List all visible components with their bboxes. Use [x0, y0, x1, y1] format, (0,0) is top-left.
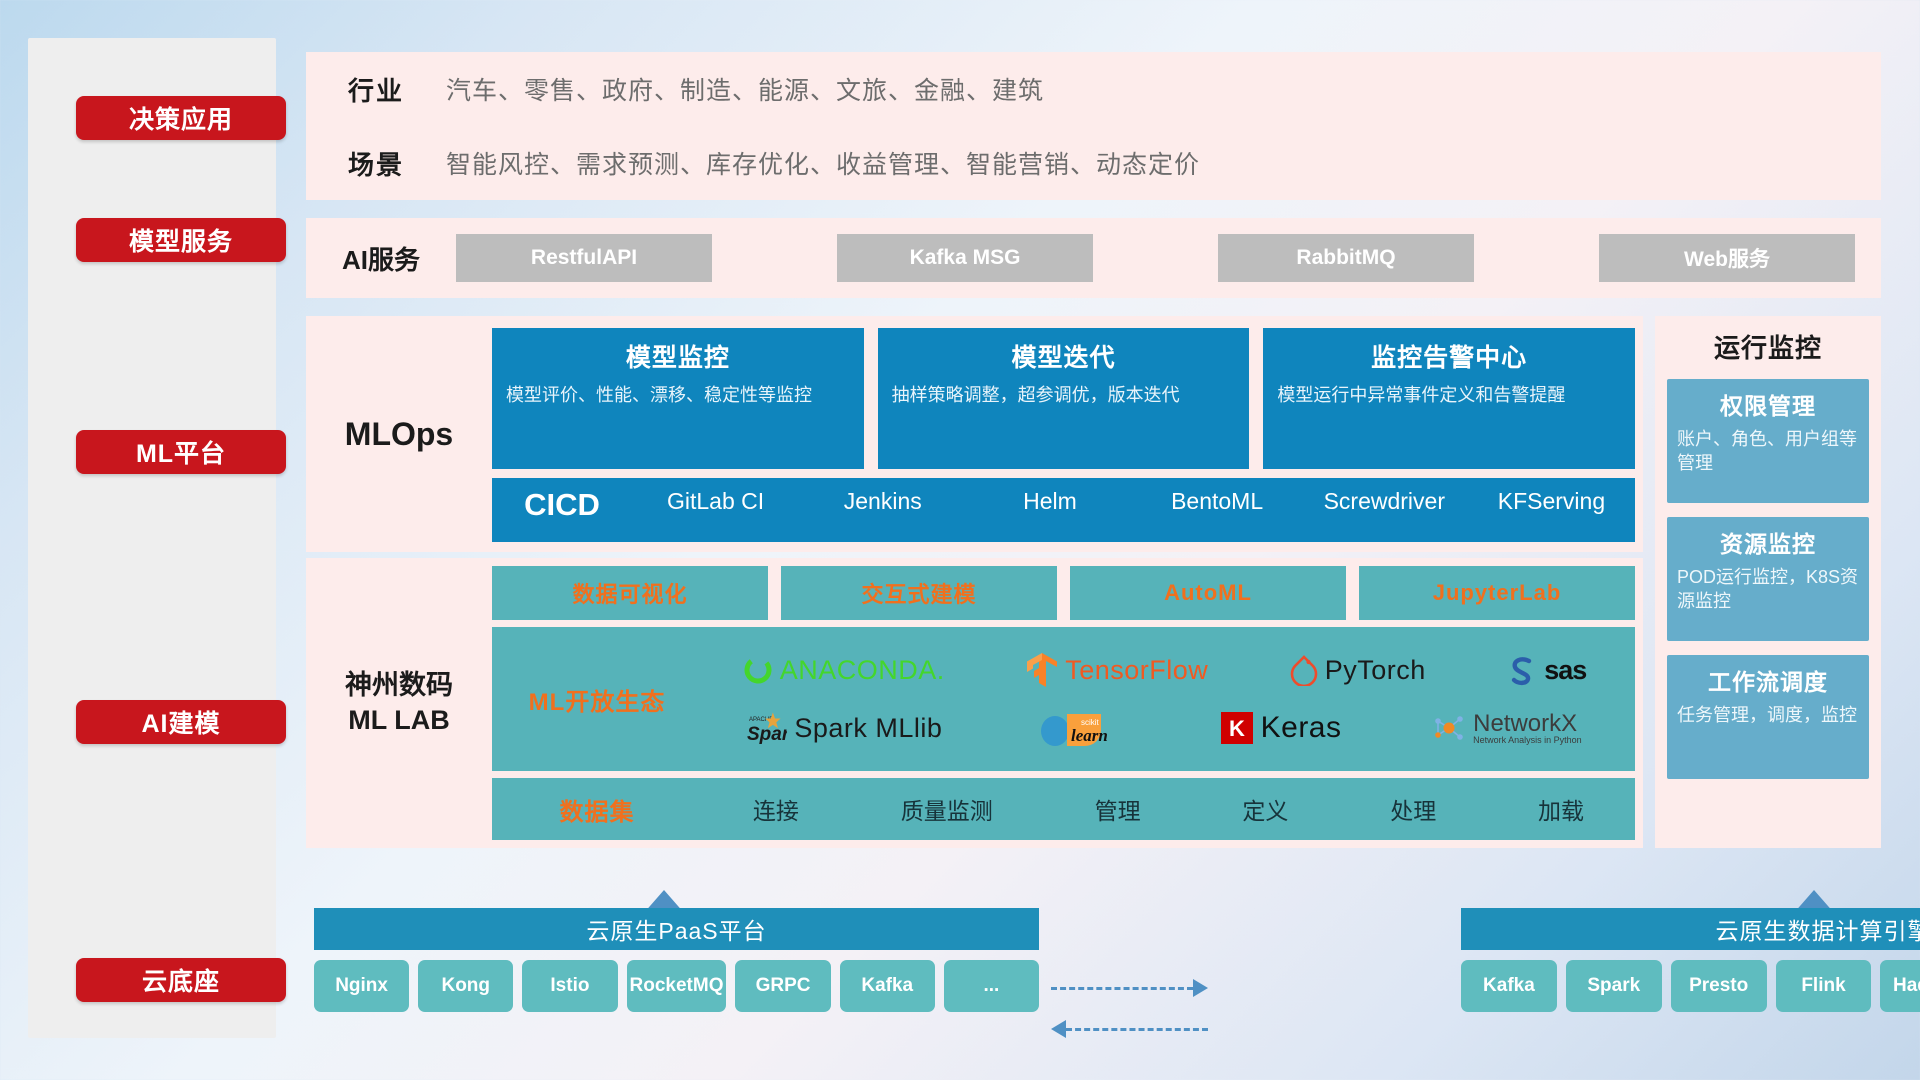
cicd-item-kfserving[interactable]: KFServing — [1468, 487, 1635, 516]
stage-chip-ml-platform[interactable]: ML平台 — [76, 430, 286, 474]
stage-chip-ai-modeling[interactable]: AI建模 — [76, 700, 286, 744]
sas-icon — [1507, 654, 1537, 686]
ml-lab-label-line1: 神州数码 — [345, 668, 453, 703]
diagram-canvas: 决策应用 模型服务 ML平台 AI建模 云底座 行业 汽车、零售、政府、制造、能… — [0, 0, 1920, 1080]
runtime-monitor-panel: 运行监控 权限管理 账户、角色、用户组等管理 资源监控 POD运行监控，K8S资… — [1655, 316, 1881, 848]
cicd-item-jenkins[interactable]: Jenkins — [799, 487, 966, 516]
pytorch-icon — [1290, 654, 1318, 686]
ml-ecosystem-title: ML开放生态 — [492, 682, 702, 717]
scenario-row: 场景 智能风控、需求预测、库存优化、收益管理、智能营销、动态定价 — [306, 126, 1881, 200]
industry-list: 汽车、零售、政府、制造、能源、文旅、金融、建筑 — [446, 71, 1044, 107]
mlops-card-model-iteration[interactable]: 模型迭代 抽样策略调整，超参调优，版本迭代 — [878, 328, 1250, 469]
engine-chip-spark[interactable]: Spark — [1566, 960, 1662, 1012]
ml-lab-panel: 神州数码 ML LAB 数据可视化 交互式建模 AutoML JupyterLa… — [306, 558, 1643, 848]
cloud-base-section: 云原生PaaS平台 Nginx Kong Istio RocketMQ GRPC… — [306, 890, 1881, 1050]
cicd-item-helm[interactable]: Helm — [966, 487, 1133, 516]
spark-mllib-logo: APACHE Spark Spark MLlib — [747, 711, 942, 745]
spark-icon: APACHE Spark — [747, 711, 787, 745]
sas-label: sas — [1544, 655, 1586, 686]
dataset-item-process[interactable]: 处理 — [1390, 792, 1436, 826]
engine-chip-presto[interactable]: Presto — [1671, 960, 1767, 1012]
industry-row: 行业 汽车、零售、政府、制造、能源、文旅、金融、建筑 — [306, 52, 1881, 126]
mlops-panel: MLOps 模型监控 模型评价、性能、漂移、稳定性等监控 模型迭代 抽样策略调整… — [306, 316, 1643, 552]
ml-lab-tool-automl[interactable]: AutoML — [1070, 566, 1346, 620]
monitor-card-workflow[interactable]: 工作流调度 任务管理，调度，监控 — [1667, 655, 1869, 779]
card-desc: 账户、角色、用户组等管理 — [1677, 427, 1859, 475]
ml-lab-label-line2: ML LAB — [348, 703, 450, 738]
paas-chip-istio[interactable]: Istio — [522, 960, 617, 1012]
ml-ecosystem-logo-row-1: ANACONDA. TensorFlow — [702, 642, 1627, 698]
pytorch-label: PyTorch — [1325, 655, 1426, 686]
paas-chip-kafka[interactable]: Kafka — [840, 960, 935, 1012]
dataset-item-connect[interactable]: 连接 — [753, 792, 799, 826]
ai-service-panel: AI服务 RestfulAPI Kafka MSG RabbitMQ Web服务 — [306, 218, 1881, 298]
paas-chip-kong[interactable]: Kong — [418, 960, 513, 1012]
card-title: 权限管理 — [1677, 387, 1859, 421]
card-title: 模型迭代 — [892, 338, 1236, 374]
cicd-title: CICD — [492, 487, 632, 523]
paas-chip-row: Nginx Kong Istio RocketMQ GRPC Kafka ... — [314, 960, 1039, 1012]
stage-label: 决策应用 — [129, 100, 233, 136]
keras-logo: K Keras — [1220, 711, 1342, 745]
engine-chip-hadoop[interactable]: Hadoop — [1880, 960, 1920, 1012]
ai-service-chip-kafka-msg[interactable]: Kafka MSG — [837, 234, 1093, 282]
industry-scenario-panel: 行业 汽车、零售、政府、制造、能源、文旅、金融、建筑 场景 智能风控、需求预测、… — [306, 52, 1881, 200]
ml-lab-tool-interactive-modeling[interactable]: 交互式建模 — [781, 566, 1057, 620]
svg-text:Spark: Spark — [747, 724, 787, 745]
card-desc: 抽样策略调整，超参调优，版本迭代 — [892, 384, 1236, 408]
stage-chip-cloud-base[interactable]: 云底座 — [76, 958, 286, 1002]
dataset-row: 数据集 连接 质量监测 管理 定义 处理 加载 — [492, 778, 1635, 840]
mllib-label: Spark MLlib — [794, 713, 942, 744]
cicd-bar: CICD GitLab CI Jenkins Helm BentoML Scre… — [492, 478, 1635, 542]
ai-service-chip-web[interactable]: Web服务 — [1599, 234, 1855, 282]
ai-service-chip-rabbitmq[interactable]: RabbitMQ — [1218, 234, 1474, 282]
card-title: 监控告警中心 — [1277, 338, 1621, 374]
runtime-monitor-title: 运行监控 — [1655, 316, 1881, 365]
cicd-item-bentoml[interactable]: BentoML — [1134, 487, 1301, 516]
dataset-item-quality[interactable]: 质量监测 — [901, 792, 993, 826]
stage-label: 云底座 — [142, 962, 220, 998]
dataset-item-manage[interactable]: 管理 — [1095, 792, 1141, 826]
cicd-item-screwdriver[interactable]: Screwdriver — [1301, 487, 1468, 516]
ai-service-label: AI服务 — [306, 240, 456, 277]
paas-chip-grpc[interactable]: GRPC — [735, 960, 830, 1012]
card-title: 工作流调度 — [1677, 663, 1859, 697]
networkx-logo: NetworkX Network Analysis in Python — [1432, 712, 1582, 745]
card-desc: 模型运行中异常事件定义和告警提醒 — [1277, 384, 1621, 408]
paas-chip-nginx[interactable]: Nginx — [314, 960, 409, 1012]
mlops-card-row: 模型监控 模型评价、性能、漂移、稳定性等监控 模型迭代 抽样策略调整，超参调优，… — [492, 328, 1635, 469]
anaconda-label: ANACONDA. — [780, 655, 945, 686]
cicd-item-gitlab-ci[interactable]: GitLab CI — [632, 487, 799, 516]
stage-chip-decision[interactable]: 决策应用 — [76, 96, 286, 140]
paas-platform-group: 云原生PaaS平台 Nginx Kong Istio RocketMQ GRPC… — [314, 908, 1039, 1012]
paas-platform-header: 云原生PaaS平台 — [314, 908, 1039, 950]
ai-service-chip-restfulapi[interactable]: RestfulAPI — [456, 234, 712, 282]
data-engine-group: 云原生数据计算引擎 Kafka Spark Presto Flink Hadoo… — [1461, 908, 1920, 1012]
ml-lab-tool-jupyterlab[interactable]: JupyterLab — [1359, 566, 1635, 620]
keras-icon: K — [1220, 711, 1254, 745]
networkx-label: NetworkX — [1473, 712, 1582, 736]
ml-ecosystem-logo-row-2: APACHE Spark Spark MLlib s — [702, 700, 1627, 756]
svg-text:K: K — [1229, 716, 1245, 741]
stage-label: AI建模 — [141, 704, 220, 740]
scenario-list: 智能风控、需求预测、库存优化、收益管理、智能营销、动态定价 — [446, 145, 1200, 181]
dataset-item-load[interactable]: 加载 — [1538, 792, 1584, 826]
engine-chip-kafka[interactable]: Kafka — [1461, 960, 1557, 1012]
card-title: 资源监控 — [1677, 525, 1859, 559]
stage-chip-model-service[interactable]: 模型服务 — [76, 218, 286, 262]
card-desc: 任务管理，调度，监控 — [1677, 703, 1859, 727]
scikit-learn-logo: scikit learn — [1033, 708, 1129, 748]
engine-chip-flink[interactable]: Flink — [1776, 960, 1872, 1012]
monitor-card-permission[interactable]: 权限管理 账户、角色、用户组等管理 — [1667, 379, 1869, 503]
card-desc: POD运行监控，K8S资源监控 — [1677, 565, 1859, 613]
paas-chip-more[interactable]: ... — [944, 960, 1039, 1012]
stage-label: ML平台 — [136, 434, 226, 470]
ml-lab-tool-row: 数据可视化 交互式建模 AutoML JupyterLab — [492, 566, 1635, 620]
networkx-icon — [1432, 712, 1466, 744]
ai-service-chip-row: RestfulAPI Kafka MSG RabbitMQ Web服务 — [456, 234, 1881, 282]
dataset-title: 数据集 — [492, 792, 702, 827]
mlops-label: MLOps — [306, 316, 492, 552]
networkx-sublabel: Network Analysis in Python — [1473, 736, 1582, 745]
keras-label: Keras — [1261, 711, 1342, 745]
ml-lab-label: 神州数码 ML LAB — [306, 558, 492, 848]
scenario-label: 场景 — [306, 145, 446, 182]
stage-rail: 决策应用 模型服务 ML平台 AI建模 云底座 — [28, 38, 276, 1038]
mlops-card-alert-center[interactable]: 监控告警中心 模型运行中异常事件定义和告警提醒 — [1263, 328, 1635, 469]
ml-ecosystem-row: ML开放生态 ANACONDA. — [492, 627, 1635, 771]
data-engine-header: 云原生数据计算引擎 — [1461, 908, 1920, 950]
dataset-item-define[interactable]: 定义 — [1242, 792, 1288, 826]
sas-logo: sas — [1507, 654, 1586, 686]
pytorch-logo: PyTorch — [1290, 654, 1426, 686]
svg-text:learn: learn — [1071, 726, 1108, 745]
stage-label: 模型服务 — [129, 222, 233, 258]
monitor-card-resource[interactable]: 资源监控 POD运行监控，K8S资源监控 — [1667, 517, 1869, 641]
paas-chip-rocketmq[interactable]: RocketMQ — [627, 960, 727, 1012]
ml-lab-tool-data-visualization[interactable]: 数据可视化 — [492, 566, 768, 620]
industry-label: 行业 — [306, 71, 446, 108]
anaconda-icon — [743, 655, 773, 685]
data-engine-chip-row: Kafka Spark Presto Flink Hadoop Storm ..… — [1461, 960, 1920, 1012]
tensorflow-label: TensorFlow — [1065, 655, 1208, 686]
mlops-card-model-monitoring[interactable]: 模型监控 模型评价、性能、漂移、稳定性等监控 — [492, 328, 864, 469]
anaconda-logo: ANACONDA. — [743, 655, 945, 686]
tensorflow-logo: TensorFlow — [1026, 652, 1208, 688]
tensorflow-icon — [1026, 652, 1058, 688]
scikit-learn-icon: scikit learn — [1033, 708, 1129, 748]
card-title: 模型监控 — [506, 338, 850, 374]
card-desc: 模型评价、性能、漂移、稳定性等监控 — [506, 384, 850, 408]
